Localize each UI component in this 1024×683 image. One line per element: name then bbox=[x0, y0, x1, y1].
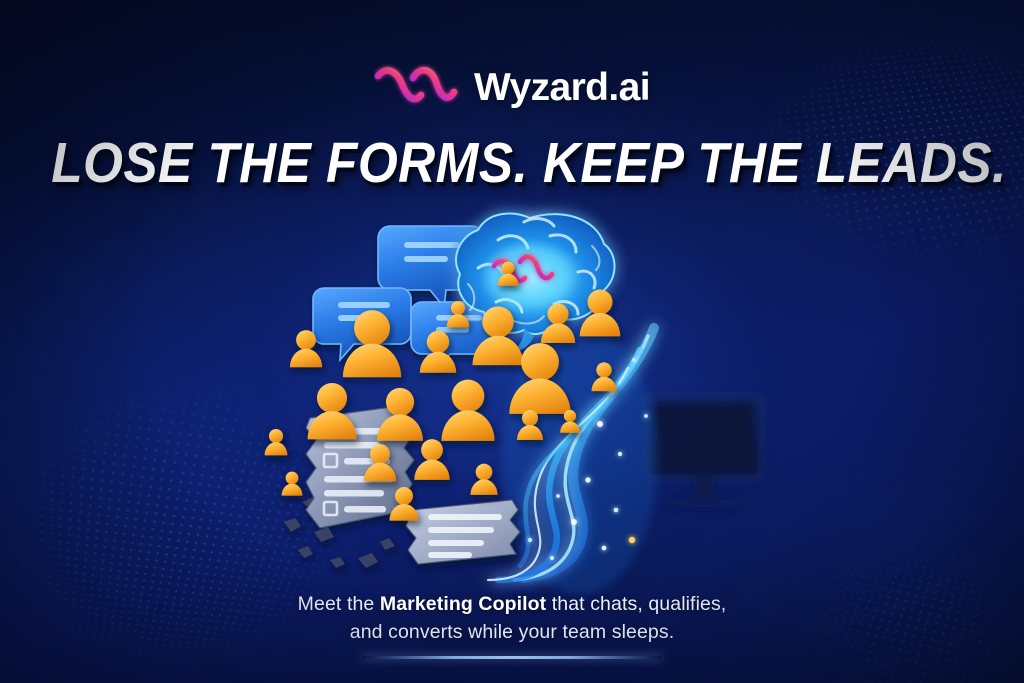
person-avatar-icon bbox=[441, 380, 494, 441]
wyzard-w-wave-icon bbox=[374, 64, 460, 110]
tagline-line-2: and converts while your team sleeps. bbox=[0, 618, 1024, 646]
person-avatar-icon bbox=[308, 383, 357, 439]
hero-illustration bbox=[262, 210, 782, 580]
poster-canvas: Wyzard.ai LOSE THE FORMS. KEEP THE LEADS… bbox=[0, 0, 1024, 683]
person-avatar-icon bbox=[265, 429, 288, 455]
page-tagline: Meet the Marketing Copilot that chats, q… bbox=[0, 590, 1024, 647]
person-avatar-icon bbox=[414, 439, 449, 480]
tagline-lead-in: Meet the bbox=[298, 593, 380, 615]
person-avatar-icon bbox=[282, 472, 303, 496]
tagline-line-1: Meet the Marketing Copilot that chats, q… bbox=[0, 590, 1024, 618]
page-headline: LOSE THE FORMS. KEEP THE LEADS. bbox=[51, 134, 973, 193]
brand-name-wordmark: Wyzard.ai bbox=[474, 68, 650, 107]
tagline-rest: that chats, qualifies, bbox=[546, 593, 726, 615]
brand-logo-lockup[interactable]: Wyzard.ai bbox=[0, 64, 1024, 110]
tagline-emphasis: Marketing Copilot bbox=[380, 593, 546, 615]
desktop-monitor-icon bbox=[646, 395, 762, 507]
bottom-accent-rule bbox=[362, 656, 662, 659]
person-avatar-icon bbox=[470, 464, 497, 495]
hero-illustration-svg bbox=[262, 210, 782, 580]
